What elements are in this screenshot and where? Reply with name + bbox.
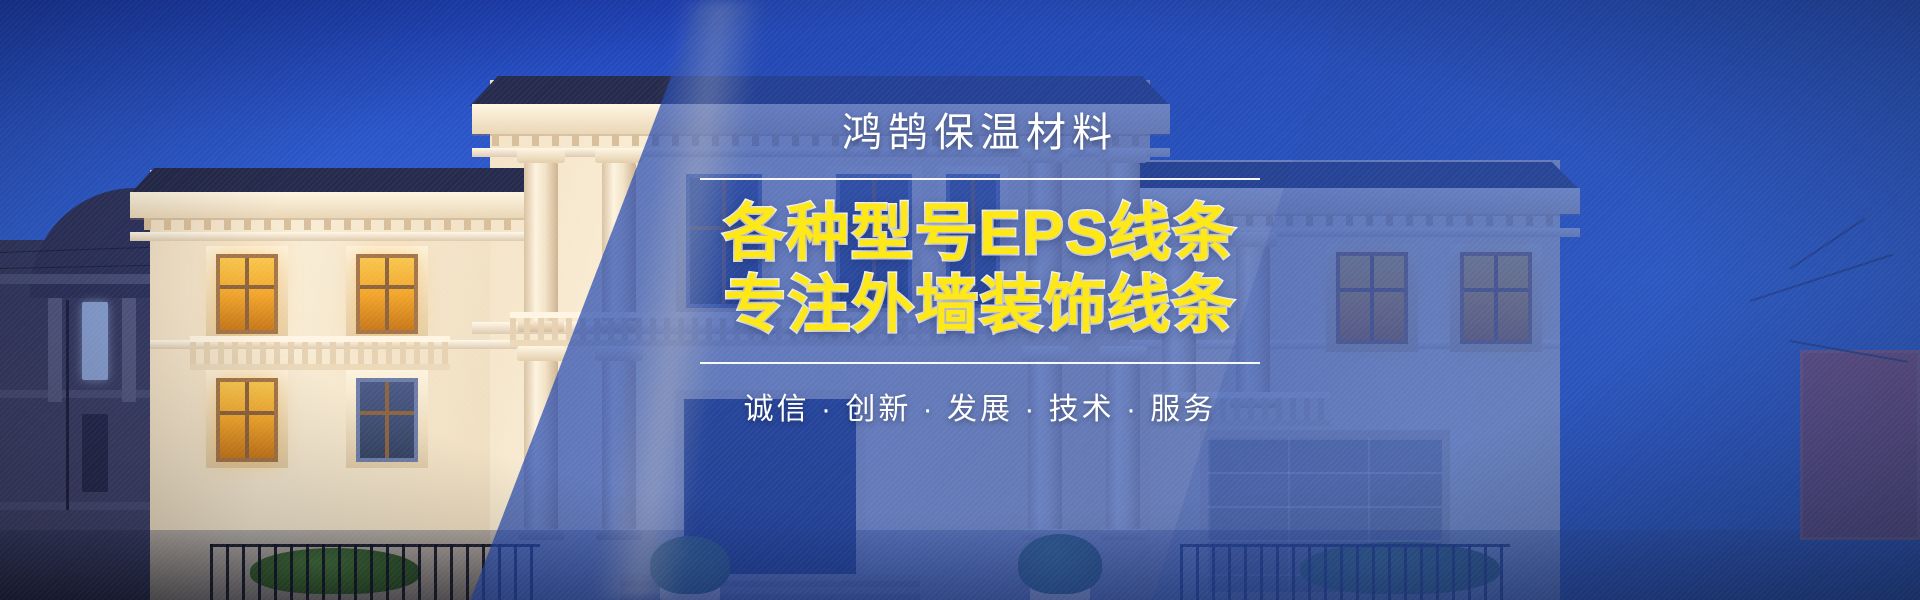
headline-line-1: 各种型号EPS线条 [700, 198, 1260, 270]
promo-banner: 鸿鹄保温材料 各种型号EPS线条 专注外墙装饰线条 诚信 · 创新 · 发展 ·… [0, 0, 1920, 600]
roof-left-wing [130, 168, 530, 194]
company-name: 鸿鹄保温材料 [700, 110, 1260, 156]
divider-top [700, 178, 1260, 180]
dentil-row [144, 218, 520, 230]
headline-line-2: 专注外墙装饰线条 [700, 270, 1260, 342]
molding-band [130, 232, 530, 241]
banner-text-block: 鸿鹄保温材料 各种型号EPS线条 专注外墙装饰线条 诚信 · 创新 · 发展 ·… [700, 110, 1260, 428]
divider-bottom [700, 362, 1260, 364]
lit-window [216, 254, 278, 334]
utility-pole [66, 300, 69, 510]
lit-window [216, 378, 278, 462]
tagline: 诚信 · 创新 · 发展 · 技术 · 服务 [700, 384, 1260, 428]
lit-window [82, 302, 108, 380]
lit-window [356, 254, 418, 334]
cornice-band [130, 192, 530, 218]
window [356, 378, 418, 462]
window [82, 414, 108, 492]
pilaster [48, 298, 62, 402]
balustrade [190, 336, 450, 370]
column [524, 162, 558, 322]
